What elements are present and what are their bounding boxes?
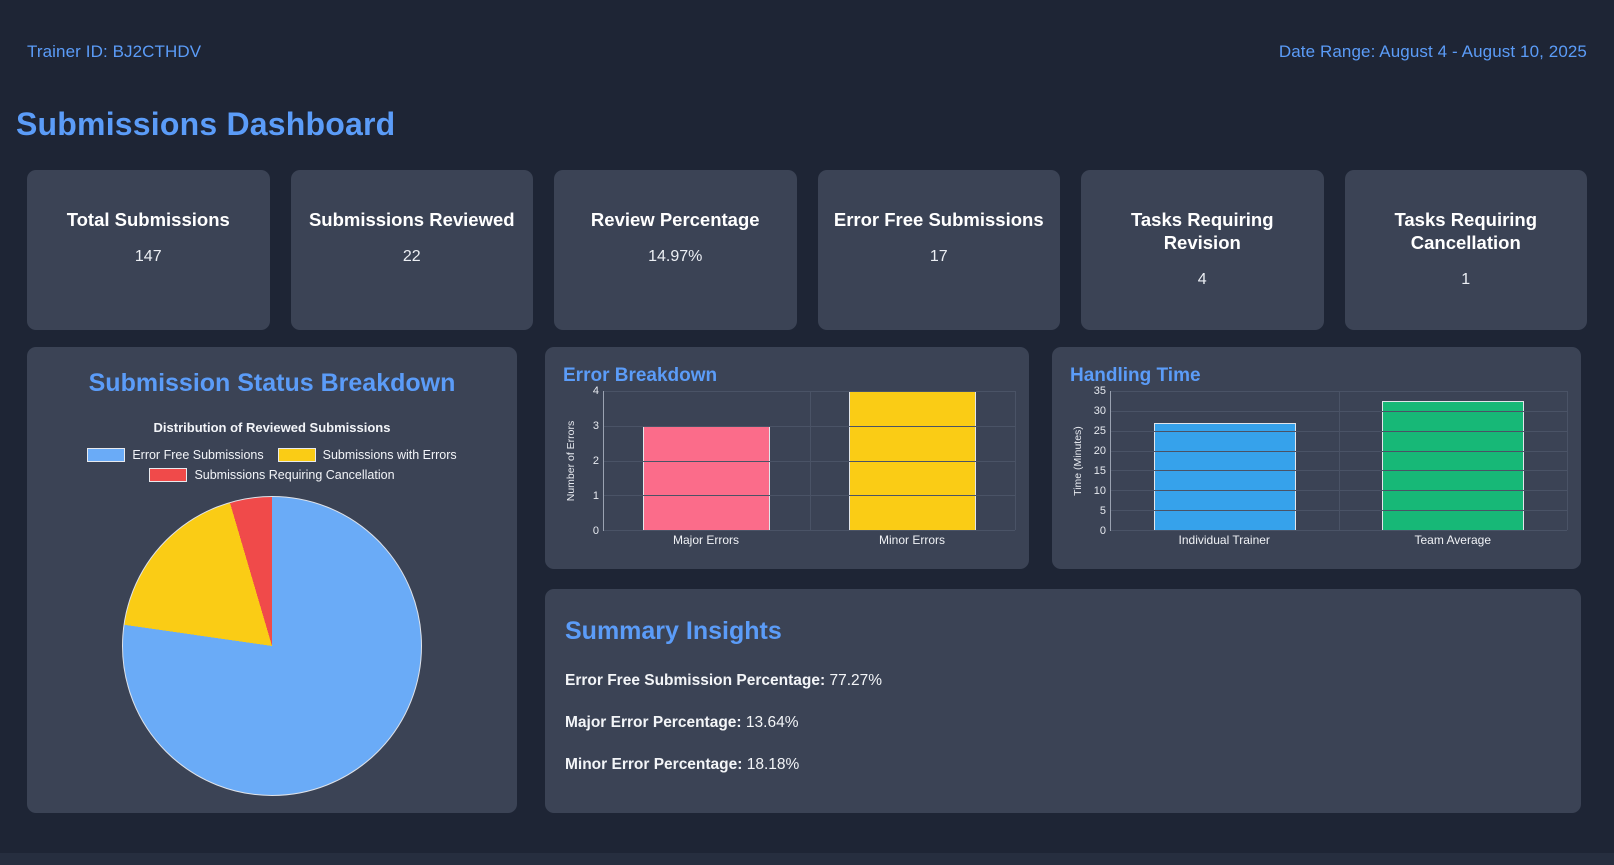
y-tick-label: 25	[1094, 425, 1106, 437]
insight-error-free-percentage: Error Free Submission Percentage: 77.27%	[565, 672, 1561, 690]
vertical-gridline	[1567, 391, 1568, 530]
y-tick-label: 20	[1094, 445, 1106, 457]
pie-legend: Error Free Submissions Submissions with …	[27, 448, 517, 482]
stat-card-submissions-reviewed: Submissions Reviewed 22	[291, 170, 534, 330]
insight-label: Major Error Percentage:	[565, 714, 742, 731]
error-breakdown-chart[interactable]: Number of Errors 01234 Major Errors Mino…	[563, 391, 1015, 561]
stat-label: Submissions Reviewed	[291, 208, 534, 231]
stat-value: 147	[27, 248, 270, 266]
page-title: Submissions Dashboard	[16, 106, 395, 143]
bar-major-errors[interactable]	[643, 426, 770, 530]
stat-card-total-submissions: Total Submissions 147	[27, 170, 270, 330]
y-tick-label: 0	[1100, 525, 1106, 537]
y-tick-label: 4	[593, 385, 599, 397]
pie-panel-title: Submission Status Breakdown	[27, 369, 517, 398]
bar-slot[interactable]	[1111, 391, 1339, 530]
legend-swatch-icon	[149, 468, 187, 482]
gridline	[1111, 530, 1567, 531]
submission-status-breakdown-panel: Submission Status Breakdown Distribution…	[27, 347, 517, 813]
date-range-label: Date Range: August 4 - August 10, 2025	[1279, 42, 1587, 62]
vertical-gridline	[1339, 391, 1340, 530]
legend-label: Submissions Requiring Cancellation	[194, 468, 394, 482]
stat-label: Tasks Requiring Cancellation	[1345, 208, 1588, 254]
handling-time-chart[interactable]: Time (Minutes) 05101520253035 Individual…	[1070, 391, 1567, 561]
bar-individual-trainer[interactable]	[1154, 423, 1295, 530]
insight-value: 18.18%	[742, 756, 799, 773]
handling-time-title: Handling Time	[1070, 365, 1201, 387]
legend-label: Submissions with Errors	[323, 448, 457, 462]
y-tick-label: 10	[1094, 485, 1106, 497]
vertical-gridline	[1015, 391, 1016, 530]
vertical-gridline	[810, 391, 811, 530]
legend-item-with-errors[interactable]: Submissions with Errors	[278, 448, 457, 462]
legend-swatch-icon	[278, 448, 316, 462]
gridline	[604, 530, 1015, 531]
y-tick-label: 5	[1100, 505, 1106, 517]
insight-label: Error Free Submission Percentage:	[565, 672, 825, 689]
y-axis-ticks: 05101520253035	[1086, 391, 1110, 531]
error-breakdown-panel: Error Breakdown Number of Errors 01234 M…	[545, 347, 1029, 569]
y-tick-label: 30	[1094, 405, 1106, 417]
stat-label: Total Submissions	[27, 208, 270, 231]
plot-area	[603, 391, 1015, 531]
stat-label: Error Free Submissions	[818, 208, 1061, 231]
y-tick-label: 3	[593, 420, 599, 432]
x-label: Minor Errors	[809, 533, 1015, 555]
stat-value: 17	[818, 248, 1061, 266]
stat-card-tasks-requiring-revision: Tasks Requiring Revision 4	[1081, 170, 1324, 330]
horizontal-scrollbar[interactable]	[0, 853, 1614, 865]
stat-value: 1	[1345, 271, 1588, 289]
legend-item-error-free[interactable]: Error Free Submissions	[87, 448, 263, 462]
stat-value: 4	[1081, 271, 1324, 289]
y-axis-title: Time (Minutes)	[1070, 391, 1086, 531]
summary-insights-title: Summary Insights	[565, 617, 1561, 646]
stat-label: Tasks Requiring Revision	[1081, 208, 1324, 254]
legend-label: Error Free Submissions	[132, 448, 263, 462]
x-axis-labels: Individual Trainer Team Average	[1110, 533, 1567, 555]
stat-card-review-percentage: Review Percentage 14.97%	[554, 170, 797, 330]
stat-cards-row: Total Submissions 147 Submissions Review…	[27, 170, 1587, 330]
y-tick-label: 0	[593, 525, 599, 537]
pie-chart-subtitle: Distribution of Reviewed Submissions	[27, 420, 517, 435]
pie-chart[interactable]	[122, 496, 422, 796]
insight-value: 13.64%	[742, 714, 799, 731]
insight-minor-error-percentage: Minor Error Percentage: 18.18%	[565, 756, 1561, 774]
y-tick-label: 1	[593, 490, 599, 502]
x-label: Major Errors	[603, 533, 809, 555]
insight-major-error-percentage: Major Error Percentage: 13.64%	[565, 714, 1561, 732]
header-meta-bar: Trainer ID: BJ2CTHDV Date Range: August …	[27, 38, 1587, 66]
stat-value: 22	[291, 248, 534, 266]
bar-slot[interactable]	[1339, 391, 1567, 530]
insight-value: 77.27%	[825, 672, 882, 689]
stat-card-error-free-submissions: Error Free Submissions 17	[818, 170, 1061, 330]
legend-swatch-icon	[87, 448, 125, 462]
y-axis-title: Number of Errors	[563, 391, 579, 531]
y-tick-label: 35	[1094, 385, 1106, 397]
y-axis-ticks: 01234	[579, 391, 603, 531]
insight-label: Minor Error Percentage:	[565, 756, 742, 773]
legend-item-requiring-cancellation[interactable]: Submissions Requiring Cancellation	[149, 468, 394, 482]
stat-card-tasks-requiring-cancellation: Tasks Requiring Cancellation 1	[1345, 170, 1588, 330]
error-breakdown-title: Error Breakdown	[563, 365, 717, 387]
pie-disc	[122, 496, 422, 796]
stat-label: Review Percentage	[554, 208, 797, 231]
trainer-id-label: Trainer ID: BJ2CTHDV	[27, 42, 201, 62]
x-label: Team Average	[1339, 533, 1568, 555]
summary-insights-panel: Summary Insights Error Free Submission P…	[545, 589, 1581, 813]
y-tick-label: 2	[593, 455, 599, 467]
y-tick-label: 15	[1094, 465, 1106, 477]
plot-area	[1110, 391, 1567, 531]
stat-value: 14.97%	[554, 248, 797, 266]
x-axis-labels: Major Errors Minor Errors	[603, 533, 1015, 555]
handling-time-panel: Handling Time Time (Minutes) 05101520253…	[1052, 347, 1581, 569]
x-label: Individual Trainer	[1110, 533, 1339, 555]
